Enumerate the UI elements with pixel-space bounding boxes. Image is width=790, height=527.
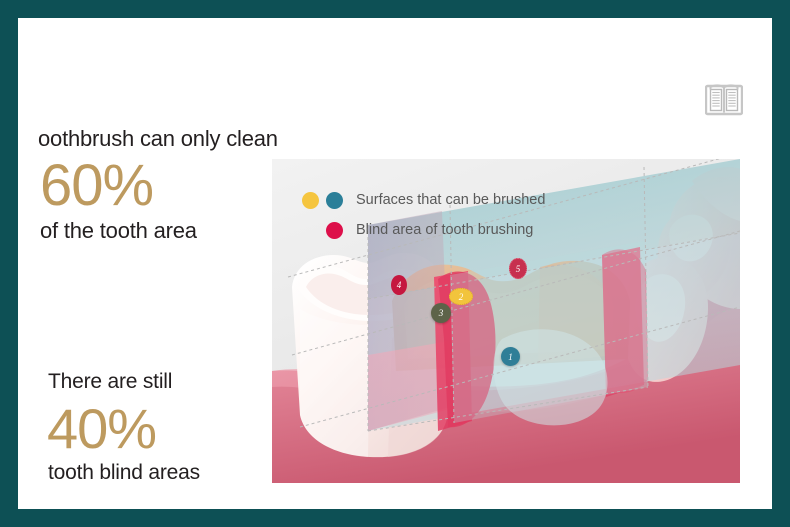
legend-item-surfaces-brushed: Surfaces that can be brushed: [302, 187, 545, 213]
legend-dot-yellow: [302, 192, 319, 209]
legend-label-surfaces-brushed: Surfaces that can be brushed: [356, 192, 545, 208]
legend-label-blind-area: Blind area of tooth brushing: [356, 222, 533, 238]
marker-5: 5: [509, 258, 527, 279]
content-card: oothbrush can only clean 60% of the toot…: [18, 18, 772, 509]
legend: Surfaces that can be brushed Blind area …: [302, 187, 545, 247]
marker-1: 1: [501, 347, 520, 366]
legend-dot-teal: [326, 192, 343, 209]
marker-2: 2: [449, 288, 473, 305]
marker-4: 4: [391, 275, 407, 295]
headline-top-line1: oothbrush can only clean: [38, 126, 340, 152]
legend-item-blind-area: Blind area of tooth brushing: [302, 217, 545, 243]
marker-3: 3: [431, 303, 451, 323]
open-book-icon[interactable]: [705, 82, 743, 118]
illustration-panel: Surfaces that can be brushed Blind area …: [272, 159, 740, 483]
page-root: oothbrush can only clean 60% of the toot…: [0, 0, 790, 527]
legend-dot-crimson: [326, 222, 343, 239]
